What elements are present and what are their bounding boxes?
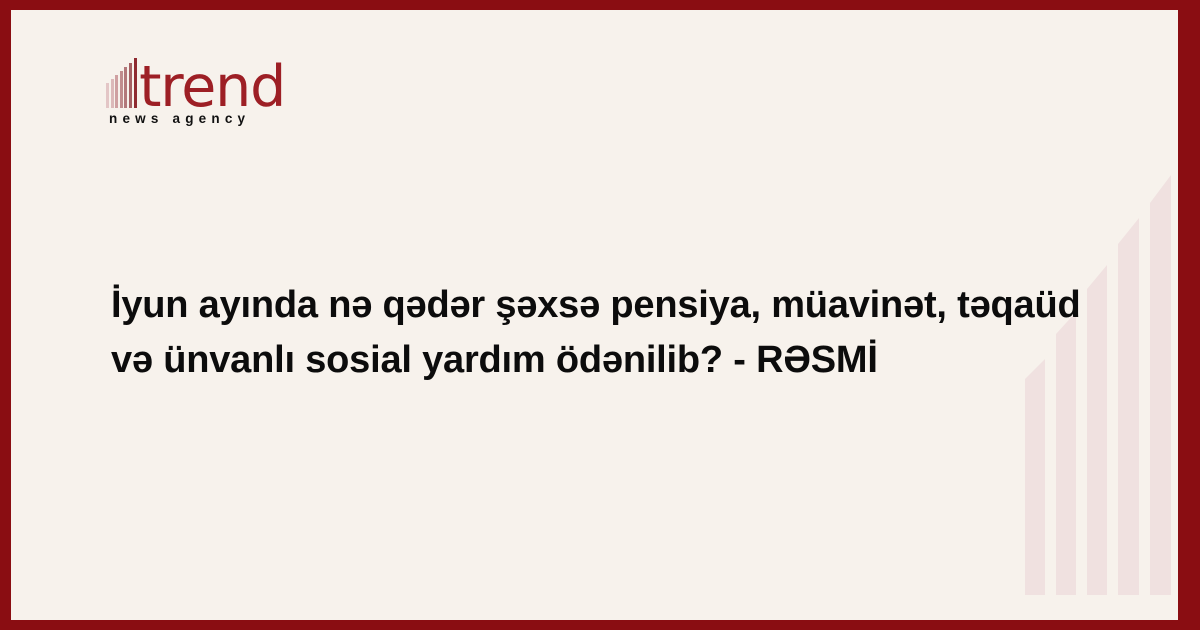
logo-lockup: trend [106,52,306,108]
decoration-bar-1 [1025,359,1045,595]
social-share-card: trend news agency İyun ayında nə qədər ş… [0,0,1200,630]
logomark-bar-2 [111,79,114,108]
card-inner-panel: trend news agency İyun ayında nə qədər ş… [11,10,1178,620]
logomark-bar-6 [129,63,132,108]
headline-line-1: İyun ayında nə qədər şəxsə pensiya, müav… [111,278,1096,333]
decoration-bar-5 [1150,175,1171,595]
trend-news-agency-logo[interactable]: trend news agency [106,52,306,126]
decoration-bar-4 [1118,218,1139,595]
logomark-bar-1 [106,83,109,108]
trend-bars-logomark-icon [106,58,138,108]
headline: İyun ayında nə qədər şəxsə pensiya, müav… [111,278,1096,388]
logomark-bar-4 [120,71,123,108]
headline-line-2: və ünvanlı sosial yardım ödənilib? - RƏS… [111,333,1096,388]
logo-wordmark: trend [139,64,285,111]
logomark-bar-5 [124,67,127,108]
logomark-bar-3 [115,75,118,108]
logomark-bar-7 [134,58,137,108]
